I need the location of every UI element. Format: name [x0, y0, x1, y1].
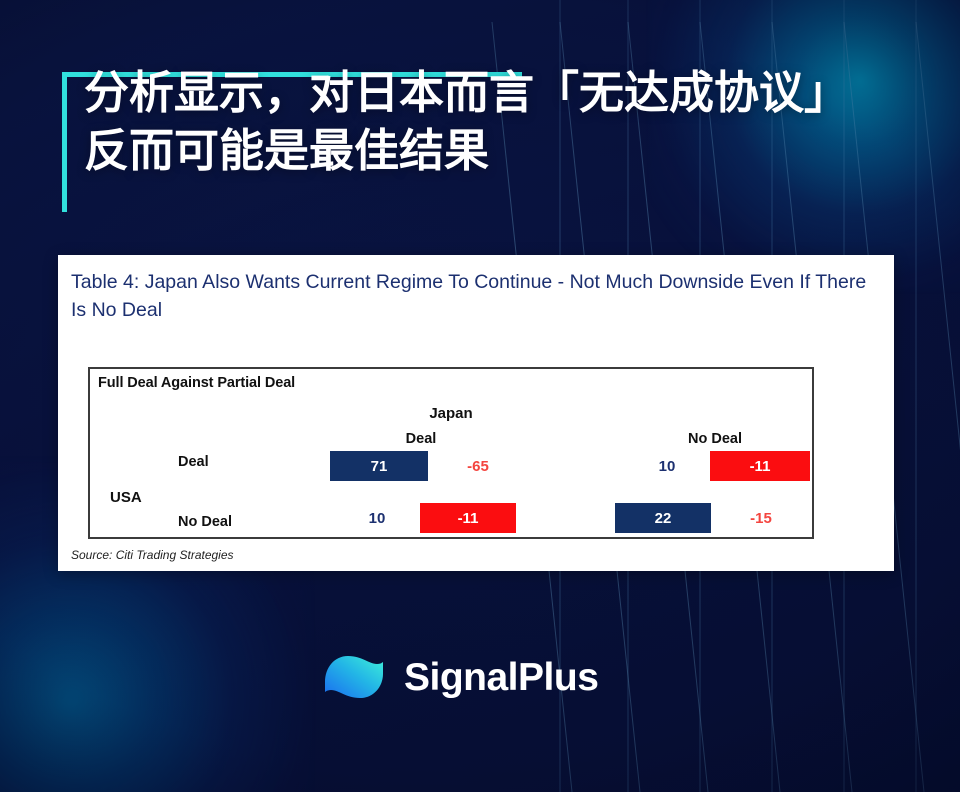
table-cell: -11 [710, 451, 810, 481]
table-caption: Table 4: Japan Also Wants Current Regime… [71, 268, 880, 324]
table-cell: -11 [420, 503, 516, 533]
table-cell: 71 [330, 451, 428, 481]
signalplus-mark-icon [322, 648, 386, 706]
brand-logo: SignalPlus [322, 648, 598, 706]
row-header-no-deal: No Deal [178, 514, 288, 530]
data-table: Full Deal Against Partial Deal Japan Dea… [88, 367, 814, 539]
source-note: Source: Citi Trading Strategies [71, 548, 234, 562]
table-card: Table 4: Japan Also Wants Current Regime… [58, 255, 894, 571]
table-cell: -65 [442, 451, 514, 481]
headline-line-1: 分析显示，对日本而言「无达成协议」 [84, 67, 849, 118]
row-group-label: USA [110, 489, 142, 506]
brand-name: SignalPlus [404, 658, 598, 697]
row-header-deal: Deal [178, 454, 288, 470]
headline-block: 分析显示，对日本而言「无达成协议」 反而可能是最佳结果 [56, 64, 896, 180]
column-group-label: Japan [90, 405, 812, 422]
headline-line-2: 反而可能是最佳结果 [84, 125, 489, 176]
table-cell: 10 [636, 451, 698, 481]
page-title: 分析显示，对日本而言「无达成协议」 反而可能是最佳结果 [56, 64, 896, 180]
poster-canvas: 分析显示，对日本而言「无达成协议」 反而可能是最佳结果 Table 4: Jap… [0, 0, 960, 792]
column-header-no-deal: No Deal [650, 431, 780, 447]
table-cell: 22 [615, 503, 711, 533]
column-header-deal: Deal [366, 431, 476, 447]
table-cell: -15 [726, 503, 796, 533]
table-subtitle: Full Deal Against Partial Deal [98, 375, 295, 391]
table-cell: 10 [346, 503, 408, 533]
